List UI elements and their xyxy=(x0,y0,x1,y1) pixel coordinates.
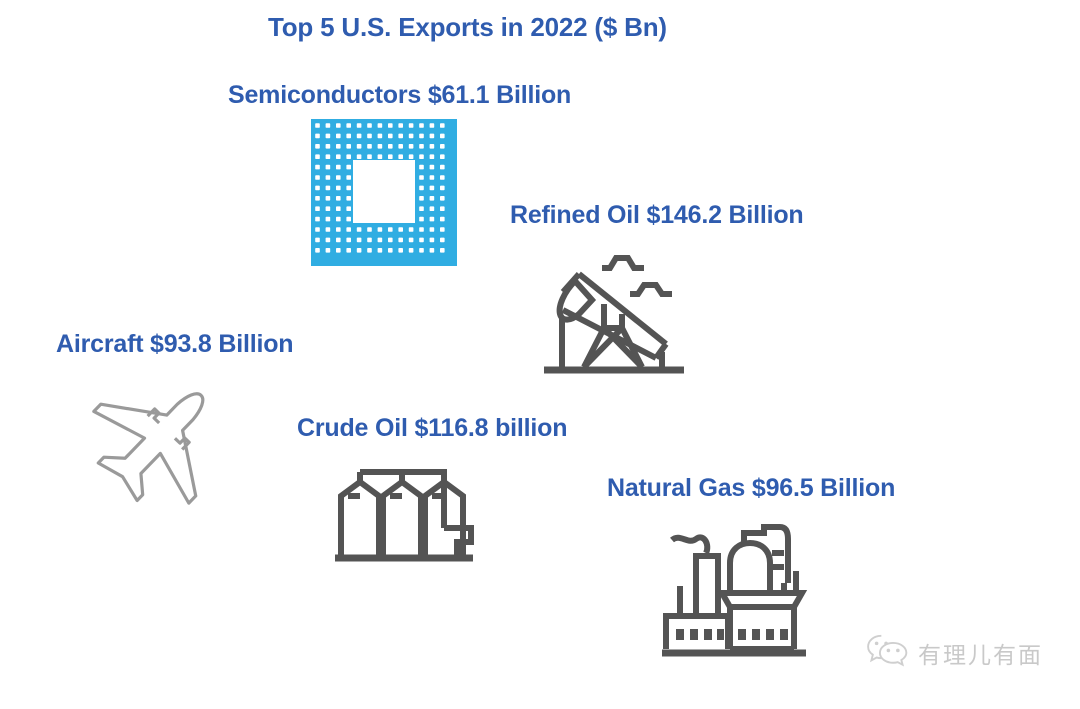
refined-oil-label: Refined Oil $146.2 Billion xyxy=(510,201,804,230)
infographic-canvas: Top 5 U.S. Exports in 2022 ($ Bn) Semico… xyxy=(0,0,1080,709)
watermark: 有理儿有面 xyxy=(866,633,1043,672)
page-title: Top 5 U.S. Exports in 2022 ($ Bn) xyxy=(268,12,667,43)
oil-storage-tanks-icon xyxy=(331,460,477,565)
gas-plant-icon xyxy=(660,523,810,660)
natural-gas-label: Natural Gas $96.5 Billion xyxy=(607,474,895,503)
semiconductors-label: Semiconductors $61.1 Billion xyxy=(228,81,571,110)
aircraft-label: Aircraft $93.8 Billion xyxy=(56,330,293,359)
airplane-icon xyxy=(82,372,234,508)
crude-oil-label: Crude Oil $116.8 billion xyxy=(297,414,567,443)
wechat-icon xyxy=(866,633,908,672)
watermark-text: 有理儿有面 xyxy=(918,636,1043,670)
semiconductor-chip-icon xyxy=(311,119,457,266)
oil-pumpjack-icon xyxy=(538,248,688,378)
